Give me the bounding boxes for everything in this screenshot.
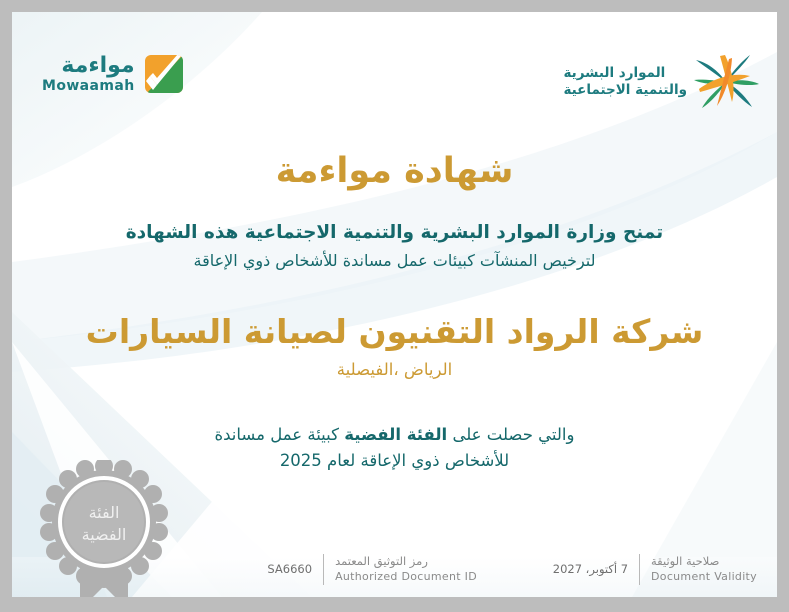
certificate-footer: رمز التوثيق المعتمد Authorized Document … — [12, 547, 777, 597]
ministry-star-icon — [693, 52, 759, 112]
page-title: شهادة مواءمة — [12, 132, 777, 194]
entity-name: شركة الرواد التقنيون لصيانة السيارات — [12, 311, 777, 354]
ministry-logo-text: الموارد البشرية والتنمية الاجتماعية — [563, 65, 687, 99]
validity-labels: صلاحية الوثيقة Document Validity — [651, 553, 757, 585]
document-id-divider — [323, 554, 324, 585]
ministry-logo-line1: الموارد البشرية — [563, 65, 665, 82]
award-suffix: كبيئة عمل مساندة — [215, 425, 340, 444]
svg-text:الفضية: الفضية — [82, 525, 127, 544]
mowaamah-logo: مواءمة Mowaamah — [42, 54, 184, 94]
ministry-logo-line2: والتنمية الاجتماعية — [563, 82, 687, 99]
ministry-logo: الموارد البشرية والتنمية الاجتماعية — [563, 52, 759, 112]
mowaamah-logo-arabic: مواءمة — [61, 54, 134, 77]
mowaamah-checkmark-icon — [144, 54, 184, 94]
granting-subtitle: لترخيص المنشآت كبيئات عمل مساندة للأشخاص… — [12, 249, 777, 273]
document-id-value: SA6660 — [252, 562, 312, 576]
certificate-page: مواءمة Mowaamah — [12, 12, 777, 597]
document-id-label-en: Authorized Document ID — [335, 569, 477, 585]
document-id-label-ar: رمز التوثيق المعتمد — [335, 553, 428, 569]
granting-statement: تمنح وزارة الموارد البشرية والتنمية الاج… — [12, 220, 777, 247]
certificate-document: مواءمة Mowaamah — [0, 0, 789, 612]
award-year-line: للأشخاص ذوي الإعاقة لعام 2025 — [280, 451, 509, 470]
mowaamah-logo-text: مواءمة Mowaamah — [42, 54, 135, 94]
authorized-document-id-block: رمز التوثيق المعتمد Authorized Document … — [252, 553, 477, 585]
validity-divider — [639, 554, 640, 585]
certificate-body: شهادة مواءمة تمنح وزارة الموارد البشرية … — [12, 132, 777, 475]
document-id-labels: رمز التوثيق المعتمد Authorized Document … — [335, 553, 477, 585]
award-prefix: والتي حصلت على — [452, 425, 574, 444]
document-validity-block: صلاحية الوثيقة Document Validity 7 أكتوب… — [553, 553, 757, 585]
validity-label-en: Document Validity — [651, 569, 757, 585]
certificate-header: مواءمة Mowaamah — [12, 12, 777, 127]
svg-text:الفئة: الفئة — [89, 503, 120, 522]
entity-location: الرياض ،الفيصلية — [12, 358, 777, 381]
validity-value: 7 أكتوبر، 2027 — [553, 562, 628, 576]
award-category: الفئة الفضية — [344, 425, 447, 444]
validity-label-ar: صلاحية الوثيقة — [651, 553, 719, 569]
mowaamah-logo-english: Mowaamah — [42, 79, 135, 94]
